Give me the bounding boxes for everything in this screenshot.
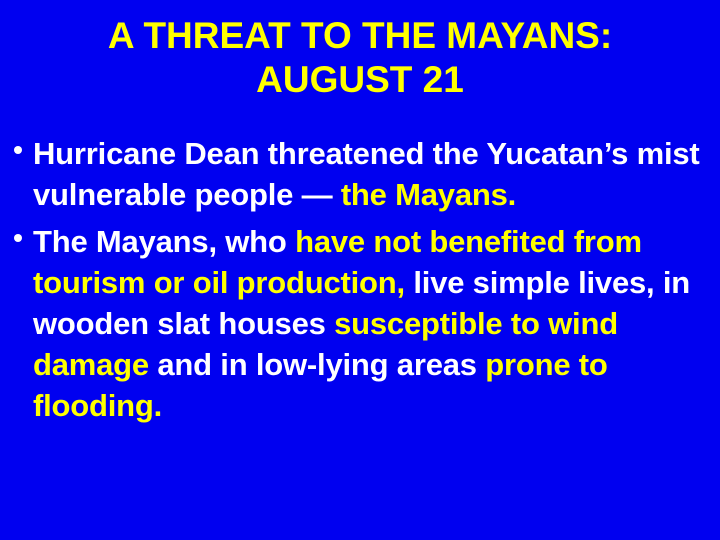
title-line-1: A THREAT TO THE MAYANS:: [0, 14, 720, 58]
title-line-2: AUGUST 21: [0, 58, 720, 102]
list-item: The Mayans, who have not benefited from …: [8, 221, 720, 426]
bullet-2-segment-1: The Mayans, who: [33, 224, 295, 259]
bullet-dot-icon: [14, 234, 22, 242]
bullet-1-text: Hurricane Dean threatened the Yucatan’s …: [33, 133, 720, 215]
bullet-dot-icon: [14, 146, 22, 154]
bullet-2-segment-5: and in low-lying areas: [149, 347, 485, 382]
list-item: Hurricane Dean threatened the Yucatan’s …: [8, 133, 720, 215]
slide-canvas: A THREAT TO THE MAYANS: AUGUST 21 Hurric…: [0, 0, 720, 540]
bullet-list: Hurricane Dean threatened the Yucatan’s …: [8, 133, 720, 432]
page-title: A THREAT TO THE MAYANS: AUGUST 21: [0, 14, 720, 102]
bullet-2-text: The Mayans, who have not benefited from …: [33, 221, 720, 426]
bullet-1-segment-2: the Mayans.: [341, 177, 516, 212]
